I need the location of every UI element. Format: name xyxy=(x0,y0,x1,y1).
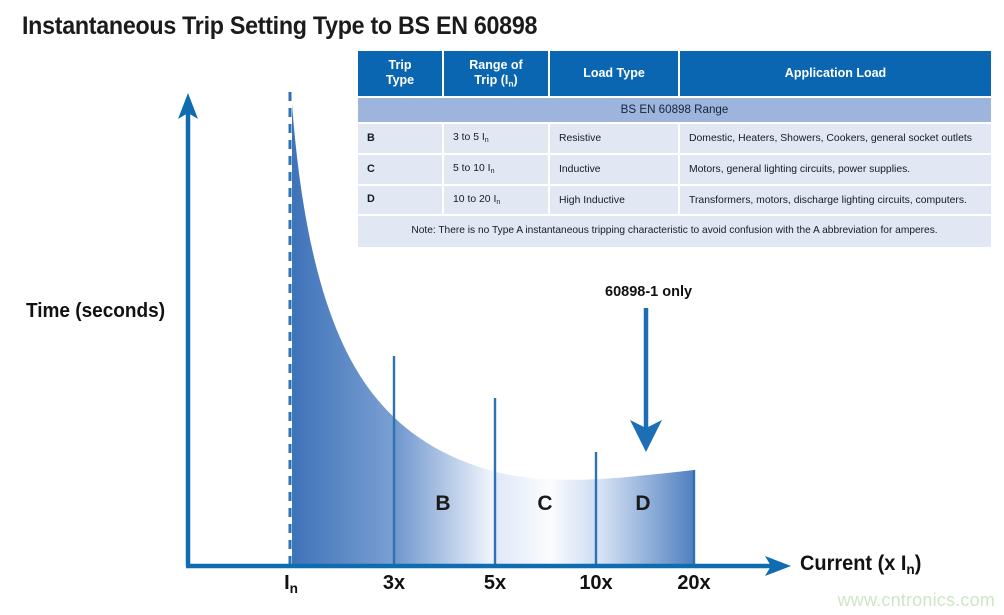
cell-load-type: Inductive xyxy=(550,155,678,184)
cell-range-text: 3 to 5 I xyxy=(453,132,485,143)
x-tick-in: In xyxy=(265,572,317,596)
x-tick-in-sub: n xyxy=(290,581,298,596)
cell-load-type: Resistive xyxy=(550,124,678,153)
th-range-line2: Trip (I xyxy=(474,73,508,87)
x-tick-3x: 3x xyxy=(368,572,420,595)
table-header-row: Trip Type Range of Trip (In) Load Type A… xyxy=(358,51,991,96)
th-application-load: Application Load xyxy=(680,51,991,96)
zone-label-c: C xyxy=(522,492,568,516)
diagram-root: Instantaneous Trip Setting Type to BS EN… xyxy=(0,0,1004,615)
y-axis xyxy=(178,93,198,566)
table-subheader-cell: BS EN 60898 Range xyxy=(358,98,991,122)
x-axis-label-sub: n xyxy=(906,562,914,578)
cell-application: Domestic, Heaters, Showers, Cookers, gen… xyxy=(680,124,991,153)
cell-application: Motors, general lighting circuits, power… xyxy=(680,155,991,184)
th-range-of-trip: Range of Trip (In) xyxy=(444,51,548,96)
table-subheader-row: BS EN 60898 Range xyxy=(358,98,991,122)
table-note-row: Note: There is no Type A instantaneous t… xyxy=(358,216,991,247)
cell-range: 10 to 20 In xyxy=(444,186,548,215)
th-trip-type-line1: Trip xyxy=(389,58,412,72)
watermark: www.cntronics.com xyxy=(838,590,995,611)
y-axis-label: Time (seconds) xyxy=(26,300,165,323)
cell-range-sub: n xyxy=(491,168,495,175)
table-note-cell: Note: There is no Type A instantaneous t… xyxy=(358,216,991,247)
trip-type-table: Trip Type Range of Trip (In) Load Type A… xyxy=(356,49,993,249)
cell-range-sub: n xyxy=(496,199,500,206)
cell-range-text: 10 to 20 I xyxy=(453,194,496,205)
cell-load-type: High Inductive xyxy=(550,186,678,215)
cell-range-text: 5 to 10 I xyxy=(453,163,491,174)
cell-range: 3 to 5 In xyxy=(444,124,548,153)
th-trip-type: Trip Type xyxy=(358,51,442,96)
x-axis-label-suffix: ) xyxy=(915,552,922,575)
x-tick-5x: 5x xyxy=(469,572,521,595)
cell-range-sub: n xyxy=(485,137,489,144)
x-tick-10x: 10x xyxy=(566,572,626,595)
cell-trip-type: C xyxy=(358,155,442,184)
th-trip-type-line2: Type xyxy=(386,73,414,87)
x-axis-label-prefix: Current (x I xyxy=(800,552,906,575)
th-load-type: Load Type xyxy=(550,51,678,96)
x-axis-label: Current (x In) xyxy=(800,552,921,578)
cell-application: Transformers, motors, discharge lighting… xyxy=(680,186,991,215)
annotation-60898-1-only: 60898-1 only xyxy=(605,284,692,300)
zone-label-b: B xyxy=(420,492,466,516)
cell-trip-type: D xyxy=(358,186,442,215)
th-range-line1: Range of xyxy=(469,58,522,72)
table-row: C 5 to 10 In Inductive Motors, general l… xyxy=(358,155,991,184)
cell-range: 5 to 10 In xyxy=(444,155,548,184)
cell-trip-type: B xyxy=(358,124,442,153)
zone-label-d: D xyxy=(620,492,666,516)
annotation-arrow-icon xyxy=(630,308,662,452)
th-range-line2-suffix: ) xyxy=(514,73,518,87)
table-row: D 10 to 20 In High Inductive Transformer… xyxy=(358,186,991,215)
table-row: B 3 to 5 In Resistive Domestic, Heaters,… xyxy=(358,124,991,153)
x-tick-20x: 20x xyxy=(664,572,724,595)
